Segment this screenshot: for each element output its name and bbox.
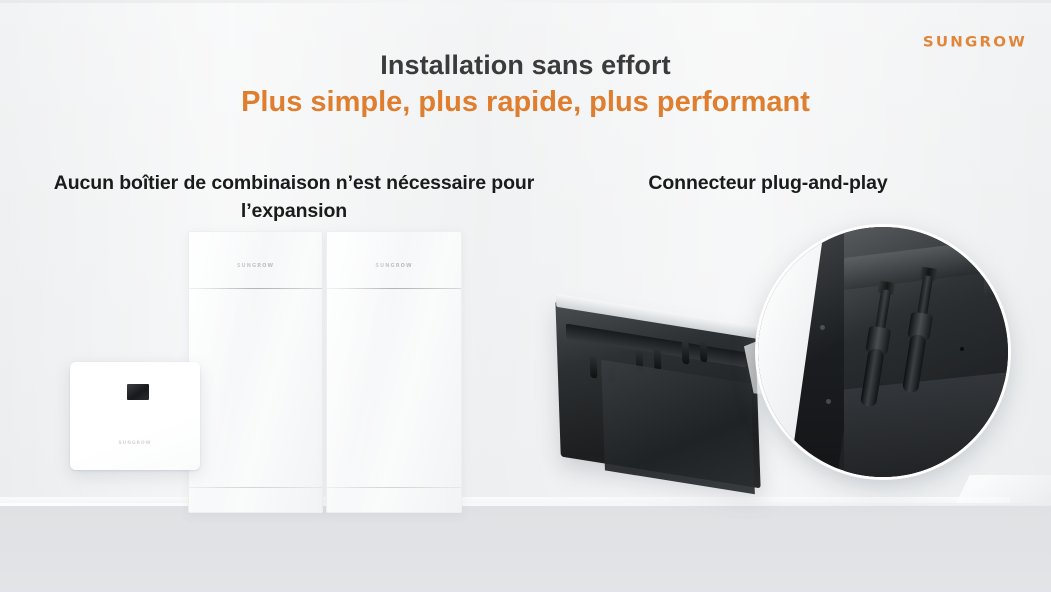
top-edge-band bbox=[0, 0, 1051, 3]
battery-expansion-photo: SUNGROW SUNGROW SUNGROW bbox=[60, 215, 520, 515]
cabinet-gloss bbox=[189, 232, 322, 512]
page-subtitle: Plus simple, plus rapide, plus performan… bbox=[216, 85, 836, 119]
page-title: Installation sans effort bbox=[216, 50, 836, 82]
inverter-brand-label: SUNGROW bbox=[70, 441, 200, 446]
cabinet-seam-top bbox=[189, 288, 322, 289]
mc4-barrel bbox=[902, 334, 927, 394]
cabinet-brand-label: SUNGROW bbox=[327, 263, 461, 269]
inverter-display-icon bbox=[127, 384, 149, 400]
inverter-side-panel bbox=[601, 360, 755, 495]
plug-and-play-connector-photo bbox=[548, 222, 1048, 512]
title-block: Installation sans effort Plus simple, pl… bbox=[216, 50, 836, 119]
magnified-connector-detail bbox=[758, 227, 1008, 477]
connector-plug bbox=[654, 347, 662, 370]
magnifier-screw bbox=[826, 399, 831, 404]
cabinet-brand-label: SUNGROW bbox=[189, 263, 322, 269]
cabinet-seam-bottom bbox=[327, 487, 461, 488]
slide-root: SUNGROW Installation sans effort Plus si… bbox=[0, 0, 1051, 592]
cabinet-seam-top bbox=[327, 288, 461, 289]
battery-cabinet-right: SUNGROW bbox=[326, 231, 462, 513]
right-section-heading: Connecteur plug-and-play bbox=[598, 170, 938, 198]
cabinet-seam-bottom bbox=[189, 487, 322, 488]
mc4-barrel bbox=[860, 348, 885, 408]
connector-plug bbox=[590, 355, 598, 378]
connector-plug bbox=[682, 341, 690, 364]
magnifier-vent-hole bbox=[960, 347, 964, 351]
inverter-unit: SUNGROW bbox=[70, 362, 200, 470]
floor-surface bbox=[0, 505, 1051, 592]
magnifier-terminal-module bbox=[984, 258, 1008, 298]
connector-plug bbox=[700, 339, 708, 362]
magnifier-screw bbox=[820, 325, 825, 330]
sungrow-logo: SUNGROW bbox=[923, 34, 1027, 51]
cabinet-gloss bbox=[327, 232, 461, 512]
battery-cabinet-left: SUNGROW bbox=[188, 231, 323, 513]
